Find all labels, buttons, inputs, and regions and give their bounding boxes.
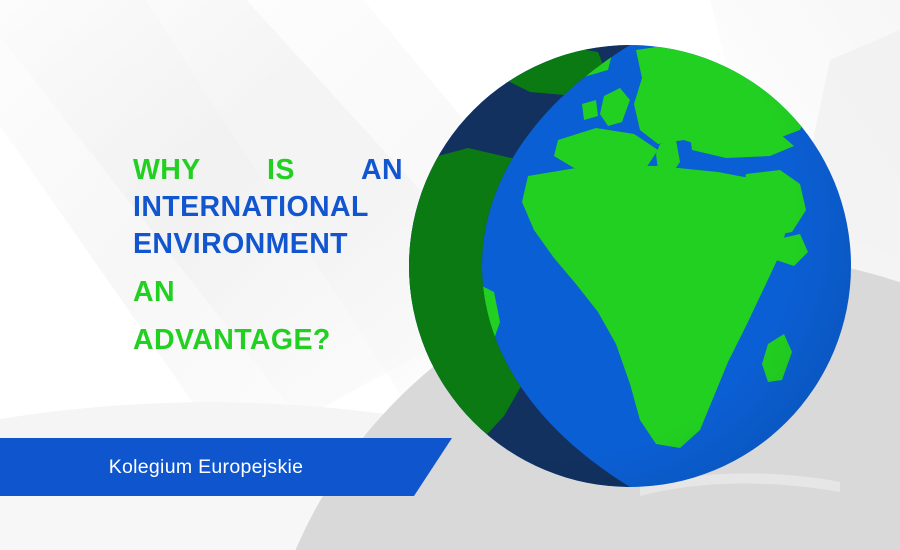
headline-word-an: AN	[361, 152, 403, 189]
page-title: WHY IS AN INTERNATIONAL ENVIRONMENT AN A…	[133, 152, 405, 359]
footer-banner: Kolegium Europejskie	[0, 438, 452, 496]
headline-spacer	[133, 263, 405, 274]
headline-line-5: ADVANTAGE?	[133, 322, 405, 359]
earth-globe-svg	[408, 44, 852, 488]
headline-line-1: WHY IS AN	[133, 152, 403, 189]
headline-word-is: IS	[267, 152, 295, 189]
footer-banner-label: Kolegium Europejskie	[0, 438, 412, 496]
headline-line-4: AN	[133, 274, 405, 311]
headline-spacer-2	[133, 311, 405, 322]
earth-globe	[408, 44, 852, 488]
headline-line-3: ENVIRONMENT	[133, 226, 405, 263]
headline-word-why: WHY	[133, 152, 201, 189]
slide-canvas: WHY IS AN INTERNATIONAL ENVIRONMENT AN A…	[0, 0, 900, 550]
globe-rim-shade	[409, 45, 851, 487]
headline-line-2: INTERNATIONAL	[133, 189, 405, 226]
